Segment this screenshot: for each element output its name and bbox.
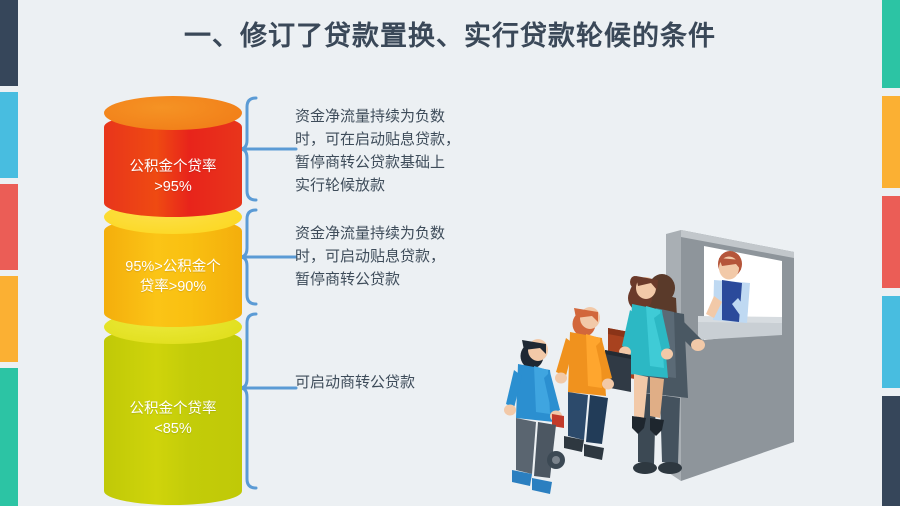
callout-top: 资金净流量持续为负数时，可在启动贴息贷款，暂停商转公贷款基础上实行轮候放款 [295,105,510,197]
woman-hand-right [661,349,673,360]
page-title: 一、修订了贷款置换、实行贷款轮候的条件 [0,14,900,53]
edge-right-bar-teal [882,0,900,88]
callout-top-line-0: 资金净流量持续为负数 [295,105,510,128]
cylinder-segment-top[interactable]: 公积金个贷率>95% [104,96,242,234]
blue-man-leg-left [516,418,536,474]
edge-right-bar-dark [882,396,900,506]
edge-left-bar-cyan [0,92,18,178]
orange-man-hand-right [602,379,614,390]
callout-top-line-2: 暂停商转公贷款基础上 [295,151,510,174]
cylinder-chart: 公积金个贷率>95%95%>公积金个贷率>90%公积金个贷率<85% [104,96,242,488]
suit-man-hand [691,339,705,351]
orange-man-hand-left [555,373,567,384]
orange-man-shoe-right [584,444,604,460]
edge-right-bar-cyan [882,296,900,388]
cylinder-top-cap-top [104,96,242,130]
blue-man-leg-right [534,422,556,478]
bank-queue-illustration [498,228,798,500]
callout-top-line-1: 时，可在启动贴息贷款， [295,128,510,151]
bracket-2 [240,314,256,488]
orange-man-leg-left [568,392,588,440]
edge-left-bar-teal [0,368,18,506]
edge-left-bar-dark [0,0,18,86]
callout-bottom: 可启动商转公贷款 [295,371,510,394]
edge-right-bar-red [882,196,900,288]
callout-middle-line-2: 暂停商转公贷款 [295,268,510,291]
edge-left-bar-orange [0,276,18,362]
blue-man-shoe-right [532,478,552,494]
orange-man-leg-right [586,395,608,444]
bracket-connectors [236,92,298,492]
suit-man-leg-right [660,395,680,464]
edge-right-bar-orange [882,96,900,188]
callout-middle-line-0: 资金净流量持续为负数 [295,222,510,245]
cylinder-body-bottom [104,327,242,505]
bracket-group [236,92,298,492]
suit-man-shoe-right [658,462,682,474]
callout-middle: 资金净流量持续为负数时，可启动贴息贷款，暂停商转公贷款 [295,222,510,291]
callout-bottom-line-0: 可启动商转公贷款 [295,371,510,394]
blue-man-backpack-wheel-hub [552,456,560,464]
callout-middle-line-1: 时，可启动贴息贷款， [295,245,510,268]
edge-left-bar-red [0,184,18,270]
bank-queue-scene [498,228,798,500]
suit-man-shoe-left [633,462,657,474]
callout-top-line-3: 实行轮候放款 [295,174,510,197]
blue-man-hand-left [504,405,516,416]
